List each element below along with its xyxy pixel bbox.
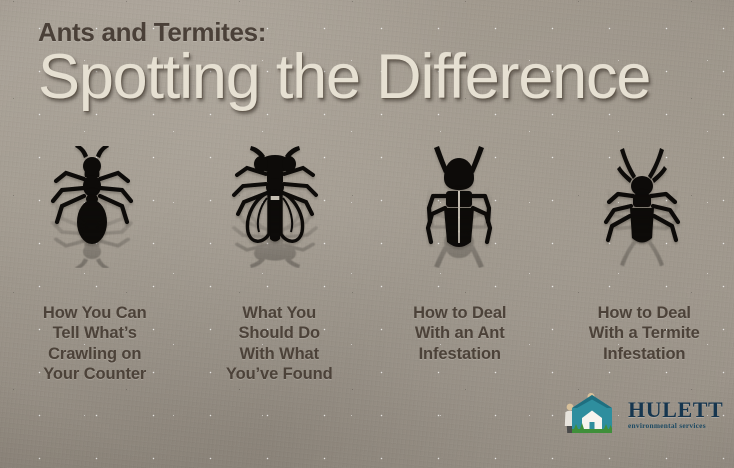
caption-cell-1: How You Can Tell What’s Crawling on Your… [0,303,184,384]
insect-cell-1 [0,142,184,302]
heading-block: Ants and Termites: Spotting the Differen… [38,18,718,109]
caption-cell-4: How to Deal With a Termite Infestation [551,303,734,384]
insect-cell-3 [367,142,551,302]
logo-company-name: HULETT [628,399,723,421]
caption-text-2: What You Should Do With What You’ve Foun… [226,303,333,384]
poster-canvas: Ants and Termites: Spotting the Differen… [0,0,734,468]
caption-line: How to Deal [413,304,506,322]
page-title: Spotting the Difference [38,45,718,109]
caption-text-4: How to Deal With a Termite Infestation [589,303,700,364]
logo-wordmark: HULETT environmental services [628,399,723,429]
caption-line: Infestation [603,345,685,363]
caption-line: Crawling on [48,345,141,363]
caption-line: With a Termite [589,324,700,342]
caption-cell-2: What You Should Do With What You’ve Foun… [184,303,368,384]
insect-cell-4 [551,142,734,302]
caption-line: You’ve Found [226,365,333,383]
caption-cell-3: How to Deal With an Ant Infestation [367,303,551,384]
caption-text-1: How You Can Tell What’s Crawling on Your… [43,303,147,384]
insect-cell-2 [184,142,368,302]
caption-text-3: How to Deal With an Ant Infestation [413,303,506,364]
caption-line: Tell What’s [53,324,137,342]
caption-line: How to Deal [598,304,691,322]
caption-line: With an Ant [415,324,505,342]
caption-line: With What [239,345,319,363]
brand-logo[interactable]: HULETT environmental services [560,389,720,437]
insect-row [0,142,734,302]
house-with-people-logo-icon [560,390,624,436]
caption-line: Infestation [419,345,501,363]
caption-line: What You [242,304,316,322]
caption-row: How You Can Tell What’s Crawling on Your… [0,303,734,384]
caption-line: How You Can [43,304,147,322]
caption-line: Your Counter [43,365,146,383]
caption-line: Should Do [238,324,320,342]
logo-tagline: environmental services [628,422,723,429]
